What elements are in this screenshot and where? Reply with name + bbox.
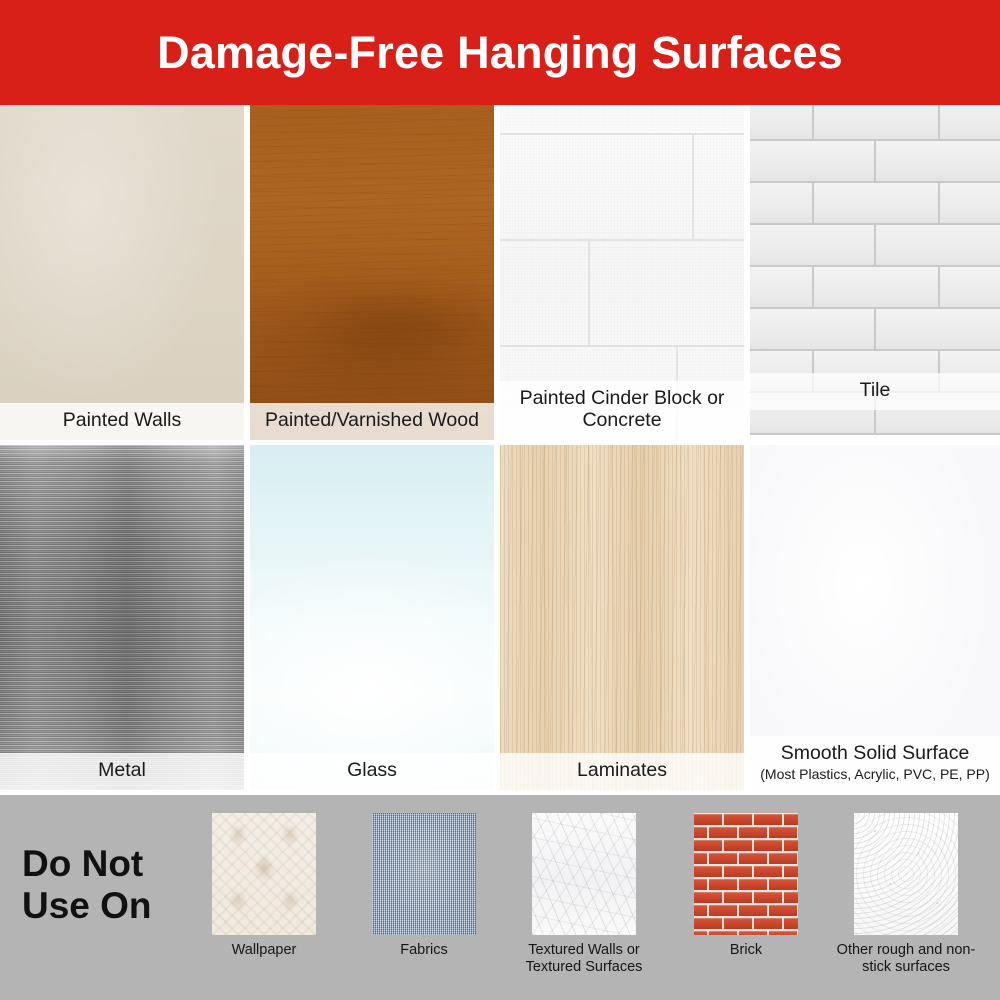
surface-cell-painted-cinder-block: Painted Cinder Block or Concrete <box>500 105 744 440</box>
do-not-use-label-wallpaper: Wallpaper <box>190 942 338 959</box>
do-not-use-label-fabrics: Fabrics <box>350 942 498 959</box>
page-title: Damage-Free Hanging Surfaces <box>157 30 843 75</box>
surface-label-painted-cinder-block: Painted Cinder Block or Concrete <box>500 381 744 440</box>
textured-plaster-texture <box>532 813 636 935</box>
surface-label-smooth-main: Smooth Solid Surface <box>781 742 970 764</box>
surface-cell-tile: Tile <box>750 105 1000 440</box>
surface-label-laminates: Laminates <box>500 753 744 790</box>
painted-wall-texture <box>0 105 244 440</box>
approved-surfaces-grid: Painted Walls Painted/Varnished Wood Pai… <box>0 105 1000 790</box>
surface-label-smooth-sub: (Most Plastics, Acrylic, PVC, PE, PP) <box>754 766 996 782</box>
red-brick-texture <box>694 813 798 935</box>
wallpaper-damask-texture <box>212 813 316 935</box>
surface-cell-laminates: Laminates <box>500 445 744 790</box>
fabrics-thumbnail <box>372 813 476 935</box>
surface-label-painted-walls: Painted Walls <box>0 403 244 440</box>
do-not-use-title-line1: Do Not <box>22 843 192 885</box>
surface-cell-glass: Glass <box>250 445 494 790</box>
do-not-use-title-line2: Use On <box>22 885 192 927</box>
surface-label-painted-varnished-wood: Painted/Varnished Wood <box>250 403 494 440</box>
infographic-root: Damage-Free Hanging Surfaces Painted Wal… <box>0 0 1000 1000</box>
surface-label-glass: Glass <box>250 753 494 790</box>
do-not-use-item-textured-walls: Textured Walls or Textured Surfaces <box>510 813 658 975</box>
do-not-use-item-other-rough: Other rough and non-stick surfaces <box>832 813 980 975</box>
surface-cell-smooth-solid-surface: Smooth Solid Surface (Most Plastics, Acr… <box>750 445 1000 790</box>
do-not-use-section: Do Not Use On Wallpaper Fabrics Textured… <box>0 795 1000 1000</box>
surface-cell-metal: Metal <box>0 445 244 790</box>
do-not-use-title: Do Not Use On <box>22 843 192 927</box>
do-not-use-item-wallpaper: Wallpaper <box>190 813 338 959</box>
surface-label-smooth-solid-surface: Smooth Solid Surface (Most Plastics, Acr… <box>750 736 1000 790</box>
surface-label-tile: Tile <box>750 373 1000 410</box>
header-banner: Damage-Free Hanging Surfaces <box>0 0 1000 105</box>
rough-stucco-texture <box>854 813 958 935</box>
textured-walls-thumbnail <box>532 813 636 935</box>
surface-label-metal: Metal <box>0 753 244 790</box>
do-not-use-label-textured-walls: Textured Walls or Textured Surfaces <box>510 942 658 975</box>
do-not-use-label-other-rough: Other rough and non-stick surfaces <box>832 942 980 975</box>
brick-thumbnail <box>694 813 798 935</box>
light-oak-laminate-texture <box>500 445 744 790</box>
do-not-use-item-brick: Brick <box>672 813 820 959</box>
varnished-wood-texture <box>250 105 494 440</box>
wallpaper-thumbnail <box>212 813 316 935</box>
glass-texture <box>250 445 494 790</box>
denim-fabric-texture <box>372 813 476 935</box>
surface-cell-painted-walls: Painted Walls <box>0 105 244 440</box>
brushed-metal-texture <box>0 445 244 790</box>
other-rough-thumbnail <box>854 813 958 935</box>
do-not-use-label-brick: Brick <box>672 942 820 959</box>
do-not-use-item-fabrics: Fabrics <box>350 813 498 959</box>
surface-cell-painted-varnished-wood: Painted/Varnished Wood <box>250 105 494 440</box>
